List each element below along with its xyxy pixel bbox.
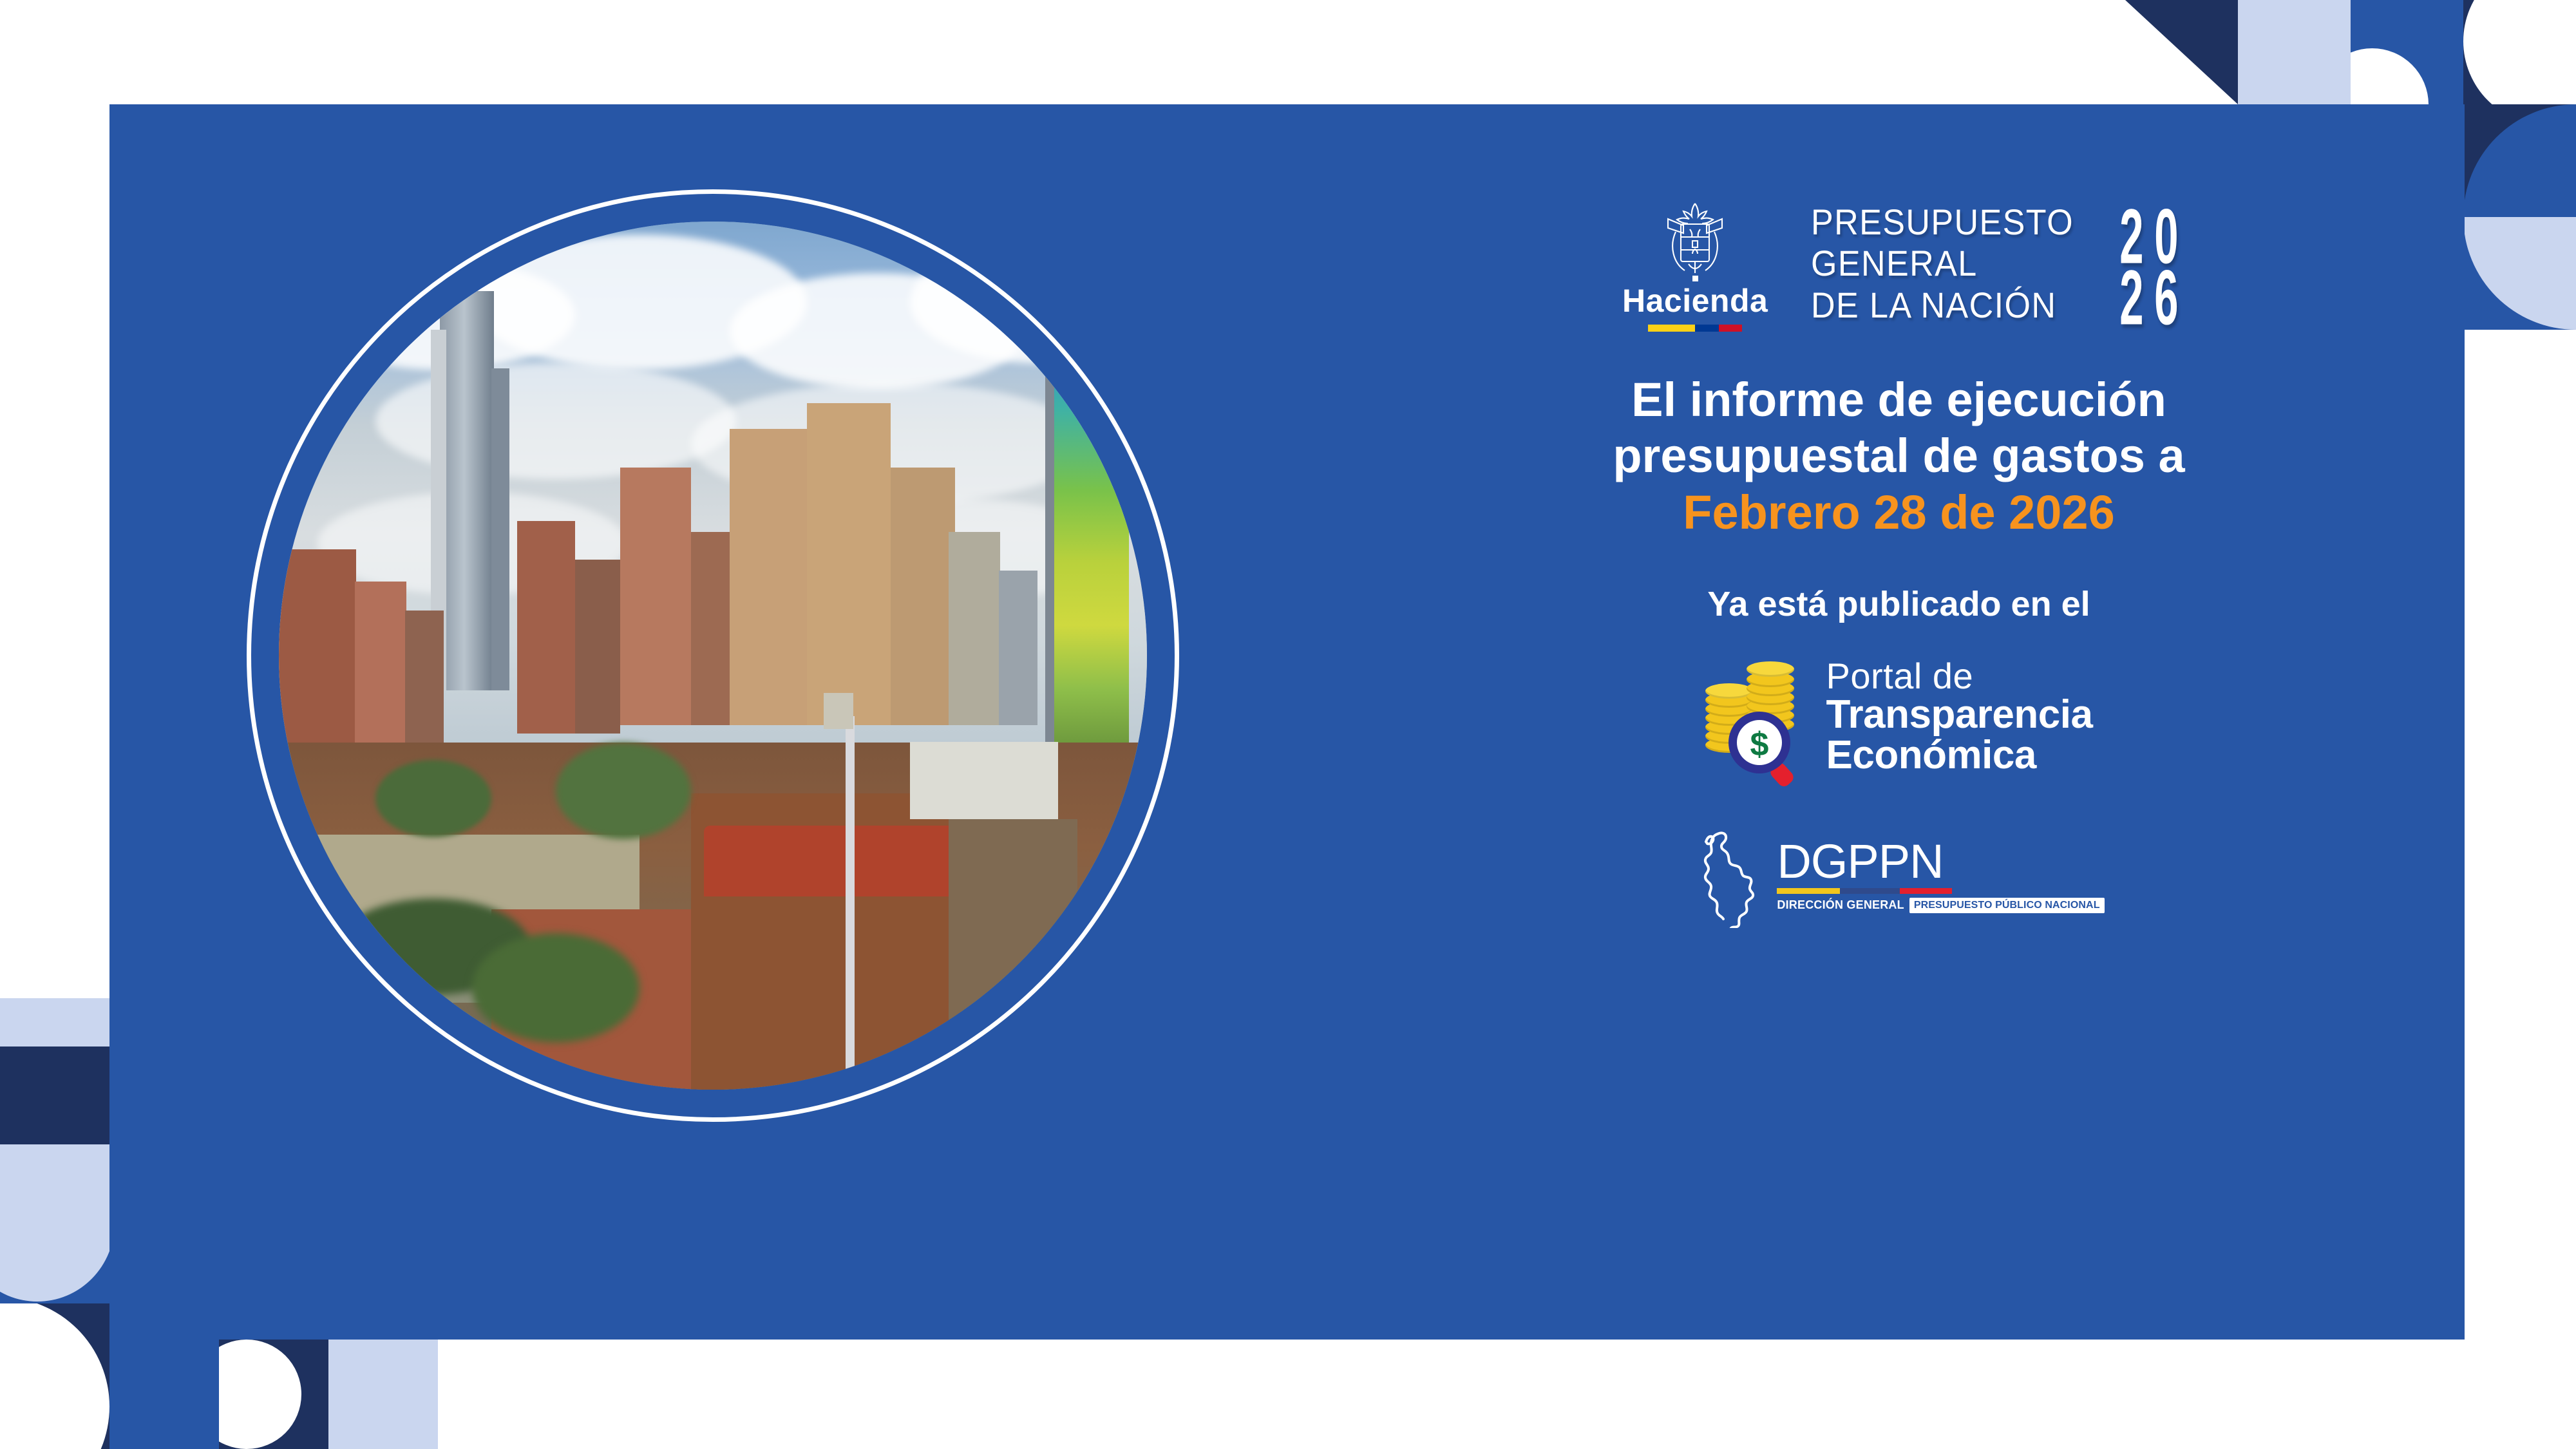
dgppn-subtitle-chip: PRESUPUESTO PÚBLICO NACIONAL — [1909, 898, 2105, 913]
decor-tile — [2238, 0, 2351, 104]
decor-tile — [2463, 104, 2576, 217]
decor-tile — [2463, 0, 2576, 104]
decor-tile — [0, 1223, 109, 1303]
colombia-map-outline-icon — [1693, 825, 1760, 928]
decor-tile — [328, 1340, 438, 1449]
presupuesto-general-logo: PRESUPUESTO GENERAL DE LA NACIÓN 2 0 2 6 — [1811, 204, 2180, 328]
content-column: Hacienda PRESUPUESTO GENERAL DE LA NACIÓ… — [1333, 104, 2465, 1340]
decor-tile — [109, 1340, 219, 1449]
decor-tile — [0, 998, 109, 1046]
subtitle: Ya está publicado en el — [1707, 584, 2090, 624]
poster-card: Hacienda PRESUPUESTO GENERAL DE LA NACIÓ… — [109, 104, 2465, 1340]
portal-line-mid: Transparencia — [1826, 694, 2093, 735]
year-digit: 2 — [2119, 263, 2141, 332]
logo-row: Hacienda PRESUPUESTO GENERAL DE LA NACIÓ… — [1618, 200, 2180, 332]
pgn-line-1: PRESUPUESTO — [1811, 204, 2074, 241]
decor-tile — [0, 1303, 109, 1449]
decor-tile — [2463, 217, 2576, 330]
photo-circle — [247, 189, 1179, 1122]
decor-tile — [219, 1340, 328, 1449]
headline-line-2: presupuestal de gastos a — [1333, 428, 2465, 484]
pgn-line-2: GENERAL — [1811, 245, 2074, 283]
decor-tile — [2125, 0, 2238, 104]
decor-tile — [2351, 0, 2463, 104]
colombia-flag-bar — [1777, 888, 1952, 894]
headline-date: Febrero 28 de 2026 — [1333, 484, 2465, 540]
portal-transparencia-logo[interactable]: $ Portal de Transparencia Económica — [1705, 654, 2093, 780]
dgppn-acronym: DGPPN — [1777, 840, 2104, 884]
bogota-cityscape-photo — [279, 222, 1147, 1090]
year-2026-block: 2 0 2 6 — [2113, 206, 2180, 328]
svg-text:$: $ — [1750, 726, 1768, 763]
headline-line-1: El informe de ejecución — [1333, 372, 2465, 428]
portal-line-bottom: Económica — [1826, 735, 2093, 775]
magnifier-dollar-icon: $ — [1727, 710, 1803, 786]
headline-block: El informe de ejecución presupuestal de … — [1333, 372, 2465, 540]
colombia-coat-of-arms-icon — [1656, 200, 1734, 282]
portal-wordmark: Portal de Transparencia Económica — [1826, 658, 2093, 775]
poster-canvas: Hacienda PRESUPUESTO GENERAL DE LA NACIÓ… — [0, 0, 2576, 1449]
pgn-lines: PRESUPUESTO GENERAL DE LA NACIÓN — [1811, 204, 2094, 325]
hacienda-wordmark: Hacienda — [1622, 285, 1768, 317]
dgppn-text: DGPPN DIRECCIÓN GENERAL PRESUPUESTO PÚBL… — [1777, 840, 2104, 913]
decor-tile — [0, 1144, 109, 1223]
coins-and-magnifier-icon: $ — [1705, 654, 1810, 780]
decor-tile — [0, 1046, 109, 1144]
portal-line-top: Portal de — [1826, 658, 2093, 694]
pgn-line-3: DE LA NACIÓN — [1811, 287, 2074, 325]
dgppn-subtitle-row: DIRECCIÓN GENERAL PRESUPUESTO PÚBLICO NA… — [1777, 898, 2104, 913]
hacienda-logo: Hacienda — [1618, 200, 1772, 332]
dgppn-subtitle-left: DIRECCIÓN GENERAL — [1777, 898, 1904, 912]
colombia-flag-bar — [1648, 325, 1742, 332]
dgppn-logo[interactable]: DGPPN DIRECCIÓN GENERAL PRESUPUESTO PÚBL… — [1693, 825, 2104, 928]
year-digit: 6 — [2154, 263, 2176, 332]
